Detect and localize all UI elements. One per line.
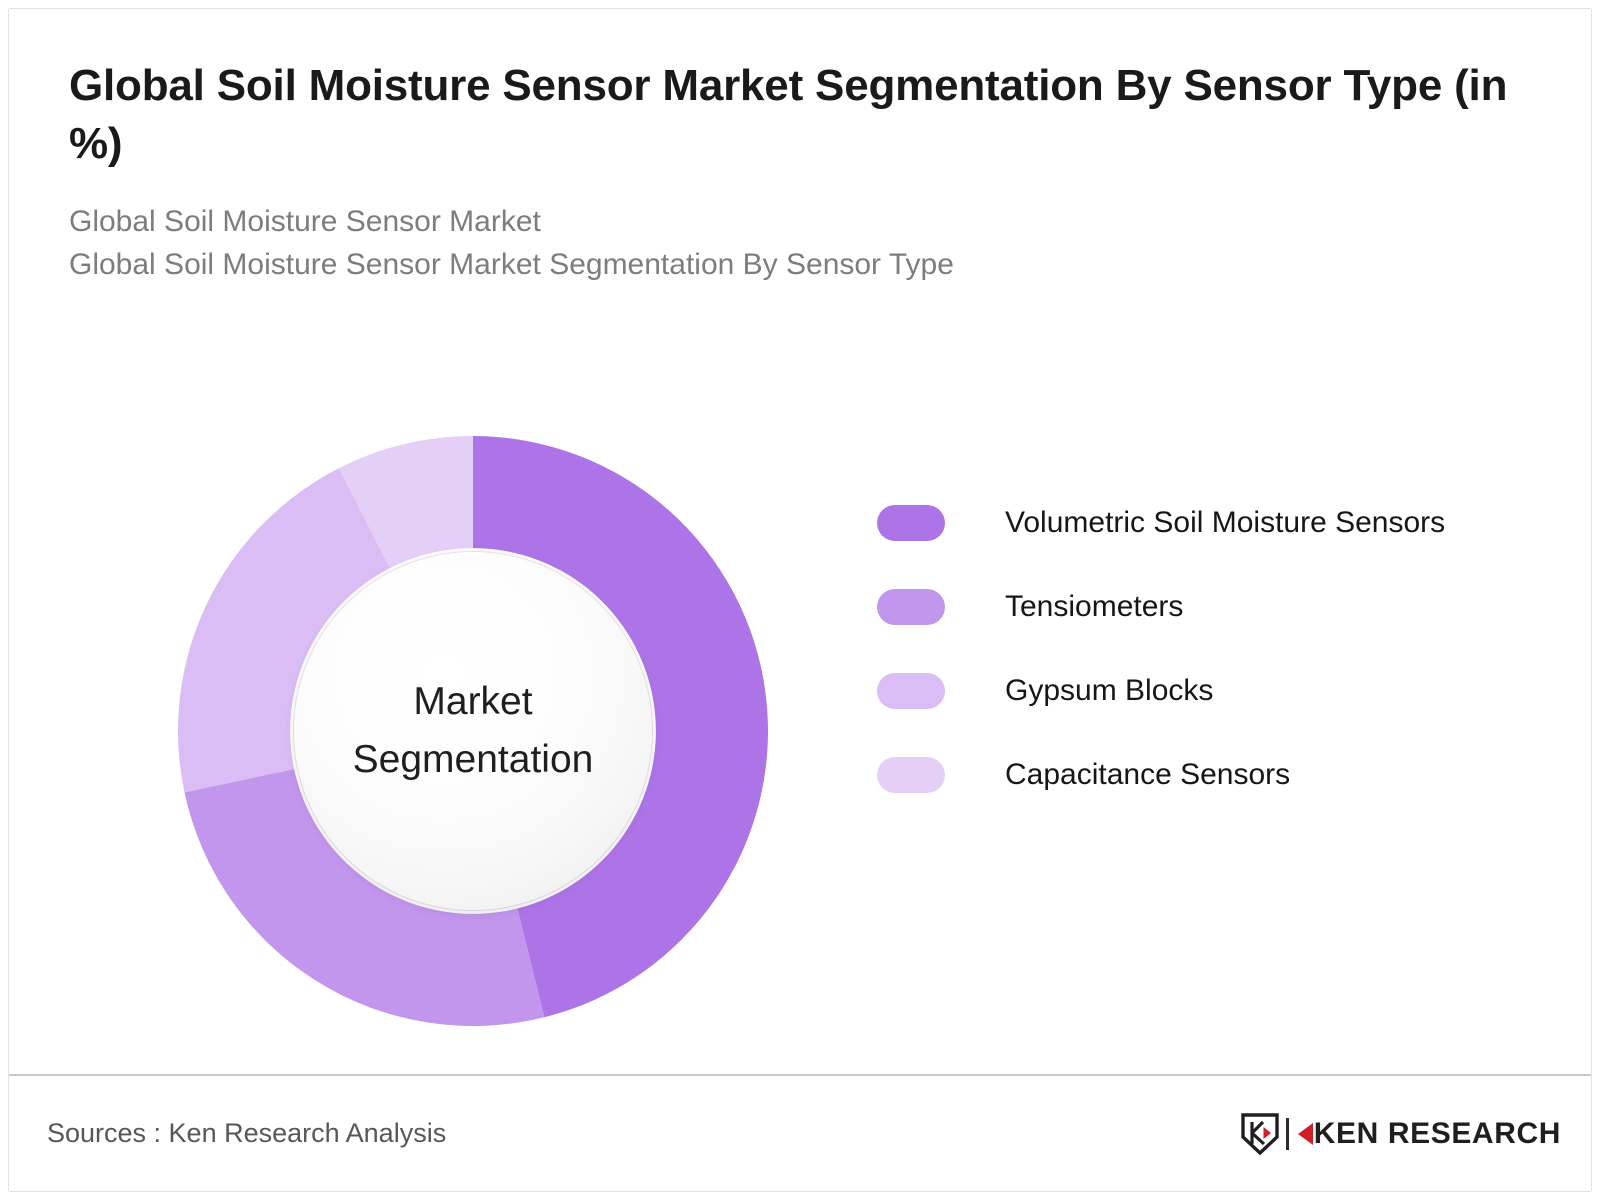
legend-swatch-icon-2 — [877, 673, 945, 709]
logo-wordmark: KEN RESEARCH — [1298, 1117, 1561, 1151]
legend-item-2[interactable]: Gypsum Blocks — [877, 649, 1537, 733]
subtitle-group: Global Soil Moisture Sensor Market Globa… — [69, 201, 1531, 286]
legend-item-3[interactable]: Capacitance Sensors — [877, 733, 1537, 817]
chart-body: Market Segmentation Volumetric Soil Mois… — [9, 369, 1591, 1069]
donut-center-label: Market Segmentation — [353, 673, 594, 788]
chart-legend: Volumetric Soil Moisture Sensors Tensiom… — [877, 481, 1537, 817]
logo-red-arrow-icon — [1298, 1123, 1313, 1145]
ken-research-shield-k-icon — [1241, 1113, 1279, 1155]
legend-label-2: Gypsum Blocks — [1005, 674, 1213, 708]
page-title: Global Soil Moisture Sensor Market Segme… — [69, 57, 1529, 173]
sources-text: Sources : Ken Research Analysis — [47, 1118, 446, 1149]
logo-divider — [1286, 1118, 1289, 1150]
legend-label-0: Volumetric Soil Moisture Sensors — [1005, 506, 1445, 540]
legend-item-1[interactable]: Tensiometers — [877, 565, 1537, 649]
legend-item-0[interactable]: Volumetric Soil Moisture Sensors — [877, 481, 1537, 565]
subtitle-line-1: Global Soil Moisture Sensor Market — [69, 201, 1531, 244]
subtitle-line-2: Global Soil Moisture Sensor Market Segme… — [69, 244, 1531, 287]
legend-swatch-icon-0 — [877, 505, 945, 541]
legend-swatch-icon-1 — [877, 589, 945, 625]
legend-swatch-icon-3 — [877, 757, 945, 793]
legend-label-3: Capacitance Sensors — [1005, 758, 1290, 792]
chart-footer: Sources : Ken Research Analysis KEN RESE… — [9, 1076, 1591, 1191]
donut-center-disc: Market Segmentation — [294, 552, 652, 910]
chart-card: Global Soil Moisture Sensor Market Segme… — [8, 8, 1592, 1192]
ken-research-logo: KEN RESEARCH — [1241, 1112, 1561, 1156]
donut-chart: Market Segmentation — [173, 431, 773, 1031]
legend-label-1: Tensiometers — [1005, 590, 1183, 624]
logo-wordmark-text: KEN RESEARCH — [1314, 1117, 1561, 1151]
chart-header: Global Soil Moisture Sensor Market Segme… — [9, 9, 1591, 286]
